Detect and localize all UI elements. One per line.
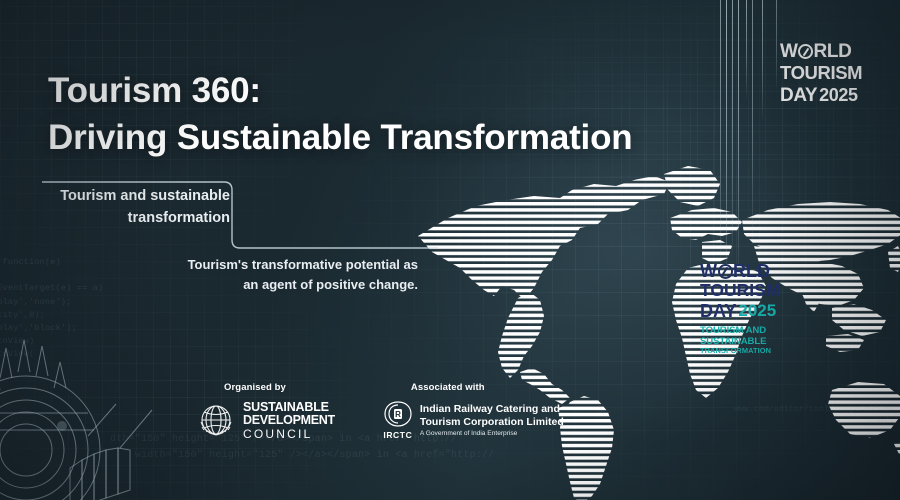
badge-center-word-rld: RLD bbox=[733, 262, 770, 280]
tagline-line-1: TOURISM AND bbox=[700, 325, 808, 336]
badge-center-year: 2025 bbox=[738, 302, 776, 319]
page-title-line-1: Tourism 360: bbox=[48, 71, 261, 110]
partner-logos: Organised by bbox=[196, 382, 564, 440]
irctc-mark-word: IRCTC bbox=[383, 430, 412, 440]
badge-top-word-w: W bbox=[780, 42, 798, 61]
badge-center-line-3: DAY bbox=[700, 302, 736, 320]
badge-center-tagline: TOURISM AND SUSTAINABLE TRANSFORMATION bbox=[700, 325, 808, 356]
background-code-right: www.com/editor/tool/image/a957b4 com/x bbox=[734, 404, 894, 429]
callout-label-secondary: Tourism's transformative potential as an… bbox=[178, 255, 418, 294]
sdc-wordmark: SUSTAINABLE DEVELOPMENT COUNCIL bbox=[243, 401, 335, 440]
tagline-line-3: TRANSFORMATION bbox=[700, 347, 808, 356]
irctc-logo: R bbox=[383, 400, 413, 428]
page-title-line-2: Driving Sustainable Transformation bbox=[48, 115, 632, 162]
sdc-line-3: COUNCIL bbox=[243, 428, 335, 440]
badge-center-line-2: TOURISM bbox=[700, 282, 808, 300]
poster-canvas: function(e) tEventTarget(e) == a) splay'… bbox=[0, 0, 900, 500]
page-title: Tourism 360: Driving Sustainable Transfo… bbox=[48, 68, 632, 161]
callout-label-primary: Tourism and sustainable transformation bbox=[42, 185, 230, 230]
world-tourism-day-badge-top: W RLD TOURISM DAY 2025 bbox=[780, 42, 888, 105]
world-tourism-day-badge-center: W RLD TOURISM DAY 2025 TOURISM AND SUSTA… bbox=[700, 262, 808, 356]
organised-by-caption: Organised by bbox=[196, 382, 335, 393]
partner-associated-with: Associated with R IRCTC Indian Railway C… bbox=[383, 382, 564, 440]
badge-top-year: 2025 bbox=[819, 86, 857, 104]
associated-with-caption: Associated with bbox=[383, 382, 564, 393]
partner-organised-by: Organised by bbox=[196, 382, 335, 440]
sdc-line-1: SUSTAINABLE bbox=[243, 401, 335, 414]
badge-center-word-w: W bbox=[700, 262, 717, 280]
irctc-line-1: Indian Railway Catering and bbox=[420, 403, 564, 416]
irctc-line-2: Tourism Corporation Limited bbox=[420, 416, 564, 429]
badge-top-word-rld: RLD bbox=[814, 42, 852, 61]
irctc-line-3: A Government of India Enterprise bbox=[420, 430, 564, 437]
compass-icon bbox=[718, 264, 733, 279]
svg-text:R: R bbox=[395, 410, 401, 419]
irctc-wordmark: Indian Railway Catering and Tourism Corp… bbox=[420, 403, 564, 437]
sdc-globe-logo bbox=[196, 400, 236, 440]
sdc-line-2: DEVELOPMENT bbox=[243, 414, 335, 427]
landmark-line-illustration bbox=[0, 318, 200, 500]
compass-icon bbox=[798, 44, 813, 59]
badge-top-line-3: DAY bbox=[780, 86, 817, 105]
badge-top-line-2: TOURISM bbox=[780, 64, 888, 83]
